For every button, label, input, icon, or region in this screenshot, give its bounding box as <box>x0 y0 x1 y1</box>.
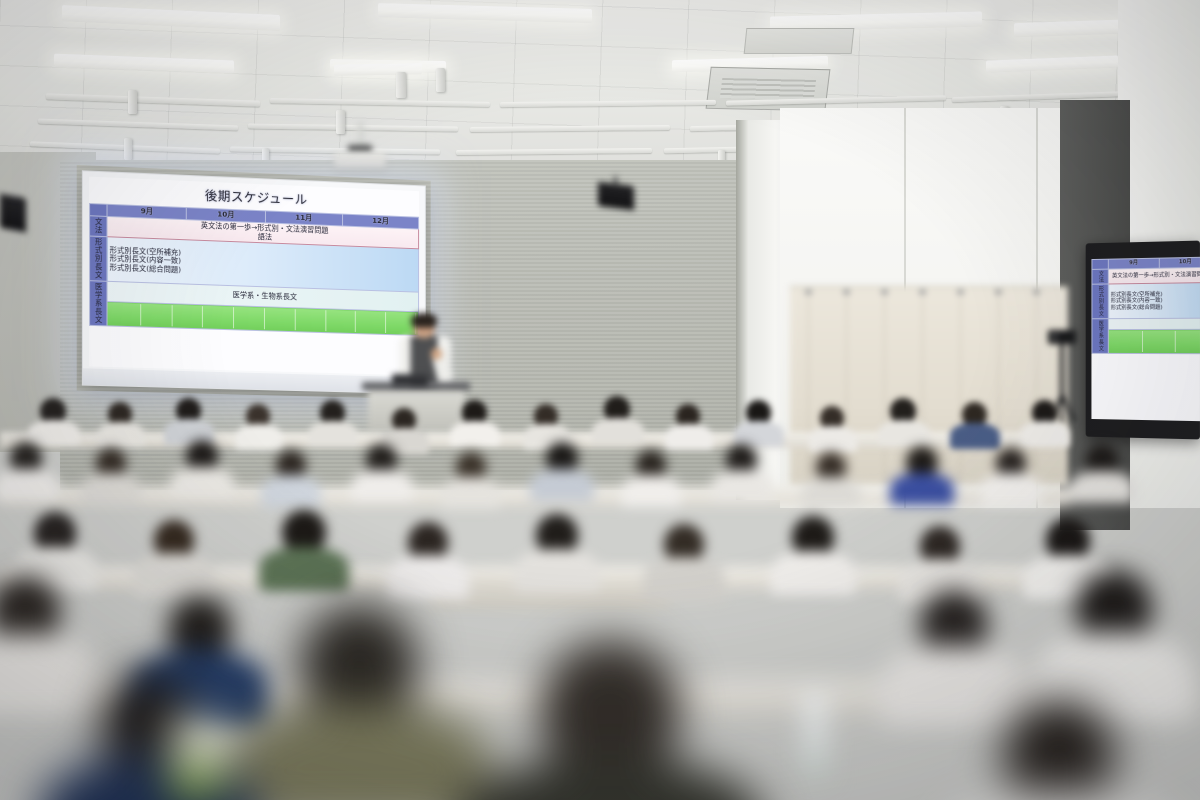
table-row: 医学系長文 <box>1092 319 1200 330</box>
head <box>920 590 988 658</box>
partition-seam <box>998 288 999 486</box>
desk <box>0 566 1100 590</box>
partition-seam <box>960 288 961 486</box>
head <box>920 526 960 566</box>
ceiling-light-panel <box>334 63 422 76</box>
shoulders <box>133 553 215 597</box>
grammar-band: 英文法の第一歩→形式別・文法演習問題 <box>1108 267 1200 285</box>
partition-seam <box>884 288 885 486</box>
lectern <box>368 386 464 430</box>
shoulders <box>643 557 725 601</box>
head <box>792 516 834 558</box>
desk-front-panel <box>430 574 670 608</box>
table-corner-cell <box>1092 259 1108 269</box>
medical-green-band <box>1108 330 1200 354</box>
head <box>536 514 578 556</box>
shoulders <box>456 758 764 800</box>
partition-clip <box>919 290 926 294</box>
clear-water-bottle <box>802 692 828 778</box>
row-label-medical: 医学系長文 <box>90 281 107 326</box>
shoulders <box>770 551 856 595</box>
shoulders <box>899 559 981 603</box>
green-cell <box>326 311 356 333</box>
slide-content: 後期スケジュール 9月 10月 11月 12月 文法 英文法の第一歩→形式別・文… <box>89 177 419 376</box>
head <box>100 676 196 772</box>
row-label-grammar: 文法 <box>90 216 107 238</box>
schedule-table: 9月 10月 11月 12月 文法 英文法の第一歩→形式別・文法演習問題 語法 … <box>89 203 419 336</box>
table-row: 形式別長文 形式別長文(空所補充) 形式別長文(内容一致) 形式別長文(総合問題… <box>1092 283 1200 319</box>
partition-clip <box>995 290 1002 294</box>
partition-seam <box>846 288 847 486</box>
far-wall-column <box>1118 0 1200 248</box>
green-cell <box>172 306 203 328</box>
head <box>1076 570 1152 646</box>
folding-partition-panels <box>790 286 1068 486</box>
green-cell <box>234 308 265 330</box>
green-band-cells <box>1111 331 1200 352</box>
shoulders <box>12 547 98 591</box>
partition-seam <box>1036 288 1037 486</box>
head <box>300 604 418 724</box>
shoulders <box>259 547 349 591</box>
green-cell <box>203 307 234 329</box>
partition-clip <box>881 290 888 294</box>
lecturer-hand <box>431 348 442 360</box>
shoulders <box>880 646 1028 726</box>
head <box>1004 700 1114 800</box>
ceiling-air-vent <box>744 28 855 54</box>
partition-clip <box>1033 290 1040 294</box>
table-row <box>1092 330 1200 354</box>
shoulders <box>1023 555 1113 599</box>
track-spotlight <box>396 72 406 98</box>
green-drink-bottle <box>172 718 220 800</box>
projection-screen: 後期スケジュール 9月 10月 11月 12月 文法 英文法の第一歩→形式別・文… <box>82 170 426 394</box>
ceiling-projector <box>334 152 386 169</box>
green-cell <box>110 304 141 326</box>
desk <box>0 680 1200 714</box>
shoulders <box>40 756 256 800</box>
track-spotlight <box>436 68 445 92</box>
green-cell <box>265 309 296 331</box>
partition-seam <box>922 288 923 486</box>
shoulders <box>940 792 1180 800</box>
head <box>168 596 232 660</box>
head <box>282 510 326 554</box>
row-label-reading: 形式別長文 <box>90 236 107 281</box>
monitor-schedule-table: 9月 10月 文法 英文法の第一歩→形式別・文法演習問題 形式別長文 形式別長文… <box>1091 257 1200 355</box>
shoulders <box>387 555 469 599</box>
table-corner-cell <box>90 204 107 217</box>
wall-speaker-left <box>0 194 26 233</box>
row-label-reading: 形式別長文 <box>1092 284 1108 319</box>
reading-line-3: 形式別長文(総合問題) <box>1111 304 1200 311</box>
table-row: 文法 英文法の第一歩→形式別・文法演習問題 <box>1092 267 1200 285</box>
row-label-grammar: 文法 <box>1092 269 1108 285</box>
shoulders <box>230 704 490 800</box>
shoulders <box>1034 632 1194 722</box>
partition-clip <box>843 290 850 294</box>
green-cell <box>296 310 326 332</box>
partition-seam <box>808 288 809 486</box>
lecturer-hair <box>411 313 437 327</box>
green-cell <box>1176 331 1200 352</box>
tripod-pole <box>1060 343 1064 399</box>
shoulders <box>0 469 58 501</box>
tripod-leg <box>1060 394 1064 424</box>
partition-clip <box>957 290 964 294</box>
head <box>408 522 448 562</box>
track-spotlight <box>124 138 132 160</box>
green-cell <box>141 305 172 327</box>
track-spotlight <box>336 110 345 134</box>
tripod-camera <box>1042 330 1082 420</box>
side-display-monitor: 後期スケジュール 9月 10月 文法 英文法の第一歩→形式別・文法演習問題 形式… <box>1086 241 1200 440</box>
shoulders <box>514 549 600 593</box>
shoulders <box>0 634 100 714</box>
head <box>540 640 680 780</box>
partition-clip <box>805 290 812 294</box>
camera-icon <box>1048 330 1076 344</box>
row-label-medical: 医学系長文 <box>1092 319 1108 354</box>
monitor-slide-content: 後期スケジュール 9月 10月 文法 英文法の第一歩→形式別・文法演習問題 形式… <box>1091 257 1200 422</box>
lecture-hall-photo: 後期スケジュール 9月 10月 11月 12月 文法 英文法の第一歩→形式別・文… <box>0 0 1200 800</box>
presenter-laptop <box>392 374 428 386</box>
shoulders <box>130 650 270 730</box>
green-cell <box>1143 331 1176 352</box>
head <box>154 520 194 560</box>
green-cell <box>356 312 386 334</box>
green-cell <box>1111 331 1143 352</box>
head <box>0 576 60 646</box>
head <box>34 512 76 554</box>
reading-band: 形式別長文(空所補充) 形式別長文(内容一致) 形式別長文(総合問題) <box>1108 283 1200 319</box>
head <box>664 524 704 564</box>
wall-speaker-right <box>598 182 634 210</box>
track-spotlight <box>128 90 137 114</box>
medical-band-title <box>1108 319 1200 330</box>
